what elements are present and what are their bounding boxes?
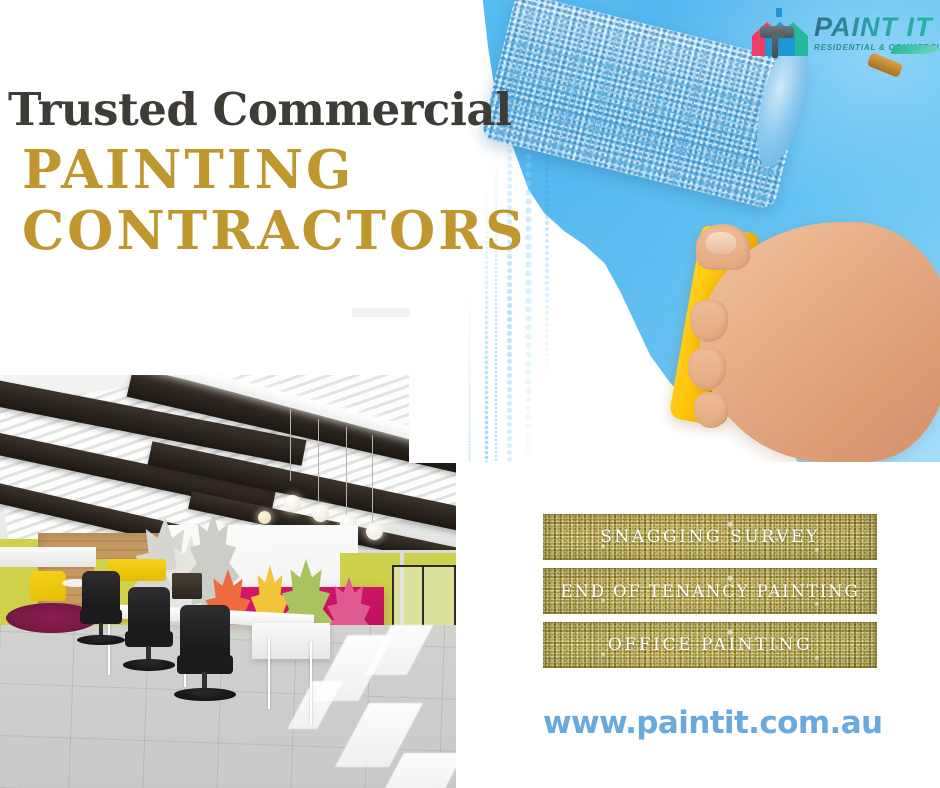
pendant-wire	[318, 419, 319, 501]
thumbnail	[706, 232, 736, 254]
logo-swoosh-accent	[890, 45, 940, 54]
finger-ring	[694, 392, 728, 428]
service-label: SNAGGING SURVEY	[600, 527, 820, 547]
house-roller-icon	[752, 6, 808, 60]
chimney-shape	[776, 8, 782, 17]
service-label: END OF TENANCY PAINTING	[560, 582, 859, 601]
pendant-light	[258, 511, 271, 524]
finger-middle	[688, 348, 726, 390]
pendant-light	[312, 505, 329, 522]
yellow-armchair	[30, 571, 66, 601]
desktop-monitor	[172, 573, 202, 599]
headline-line-3: CONTRACTORS	[22, 204, 478, 260]
website-url[interactable]: www.paintit.com.au	[543, 705, 903, 741]
services-list: SNAGGING SURVEY END OF TENANCY PAINTING …	[543, 514, 877, 676]
desk-leg	[268, 637, 270, 709]
pendant-wire	[372, 435, 373, 527]
office-interior-photo	[0, 375, 456, 788]
pendant-wire	[290, 409, 291, 481]
office-chair	[180, 605, 230, 701]
logo-roller-stem	[772, 36, 778, 58]
headline-line-2: PAINTING	[22, 143, 478, 199]
decorative-bar	[352, 308, 410, 317]
desk-storage-unit	[252, 623, 330, 659]
office-chair	[128, 587, 170, 671]
service-banner-end-of-tenancy-painting[interactable]: END OF TENANCY PAINTING	[543, 568, 877, 614]
white-counter	[0, 547, 96, 567]
finger-index	[690, 300, 728, 342]
service-banner-office-painting[interactable]: OFFICE PAINTING	[543, 622, 877, 668]
office-chair	[82, 571, 120, 645]
pendant-wire	[346, 427, 347, 515]
headline-line-1: Trusted Commercial	[8, 86, 478, 135]
poster-canvas: PAINT IT RESIDENTIAL & COMMERCIAL Truste…	[0, 0, 940, 788]
service-label: OFFICE PAINTING	[608, 635, 812, 655]
desk-leg	[310, 641, 312, 725]
headline-block: Trusted Commercial PAINTING CONTRACTORS	[8, 86, 478, 260]
brand-logo[interactable]: PAINT IT RESIDENTIAL & COMMERCIAL	[752, 4, 936, 62]
service-banner-snagging-survey[interactable]: SNAGGING SURVEY	[543, 514, 877, 560]
logo-title: PAINT IT	[814, 14, 940, 41]
pendant-light	[284, 495, 301, 512]
